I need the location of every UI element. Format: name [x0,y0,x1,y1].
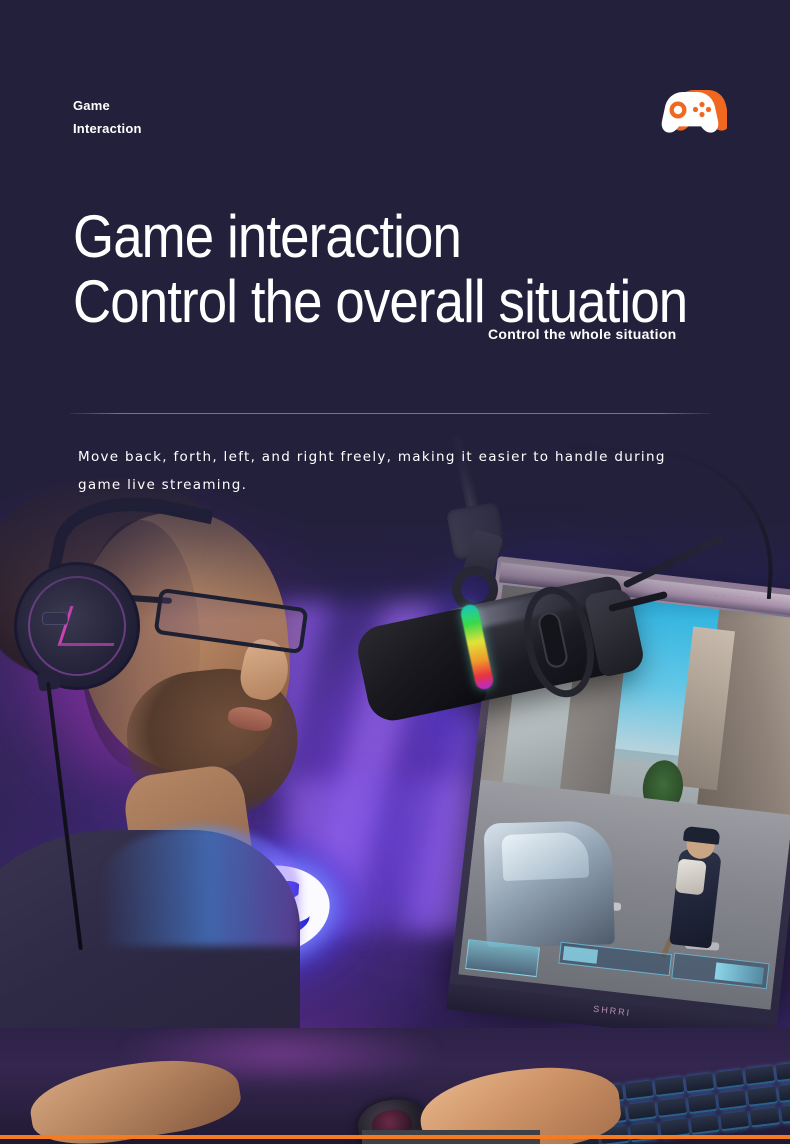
keyboard-key [780,1104,790,1124]
keyboard-key [658,1098,687,1118]
keyboard-key [625,1080,654,1100]
section-divider [70,413,710,414]
keyboard-key [688,1094,717,1114]
shoulder-rim-light [100,826,300,946]
keyboard-key [775,1062,790,1082]
keyboard-key [778,1083,790,1103]
hero-title-line-1: Game interaction [73,208,689,267]
keyboard-key [745,1066,774,1086]
keyboard-key [685,1073,714,1093]
hero-title: Game interaction Control the overall sit… [73,208,773,332]
hero-title-line-2: Control the overall situation [73,273,689,332]
hero-body-text: Move back, forth, left, and right freely… [78,443,678,500]
keyboard-key [628,1101,657,1121]
game-character-shirt [675,858,707,895]
keyboard-key [748,1087,777,1107]
product-lifestyle-photo: SHRRI [0,0,790,1144]
desk-area [0,1028,790,1144]
keyboard-key [720,1111,749,1131]
keyboard-key [630,1122,659,1142]
bottom-accent-rule [0,1135,790,1139]
keyboard-key [655,1077,684,1097]
banner-page: SHRRI [0,0,790,1144]
eyebrow-line-1: Game [73,95,142,118]
game-vehicle-window [501,831,589,881]
gamepad-icon [655,86,727,138]
hero-subtitle-overlay: Control the whole situation [488,326,677,342]
keyboard-key [718,1090,747,1110]
photo-top-fade [0,400,790,620]
keyboard-key [750,1107,779,1127]
keyboard-key [690,1115,719,1135]
keyboard-key [715,1069,744,1089]
eyebrow-label: Game Interaction [73,95,142,141]
eyebrow-line-2: Interaction [73,118,142,141]
